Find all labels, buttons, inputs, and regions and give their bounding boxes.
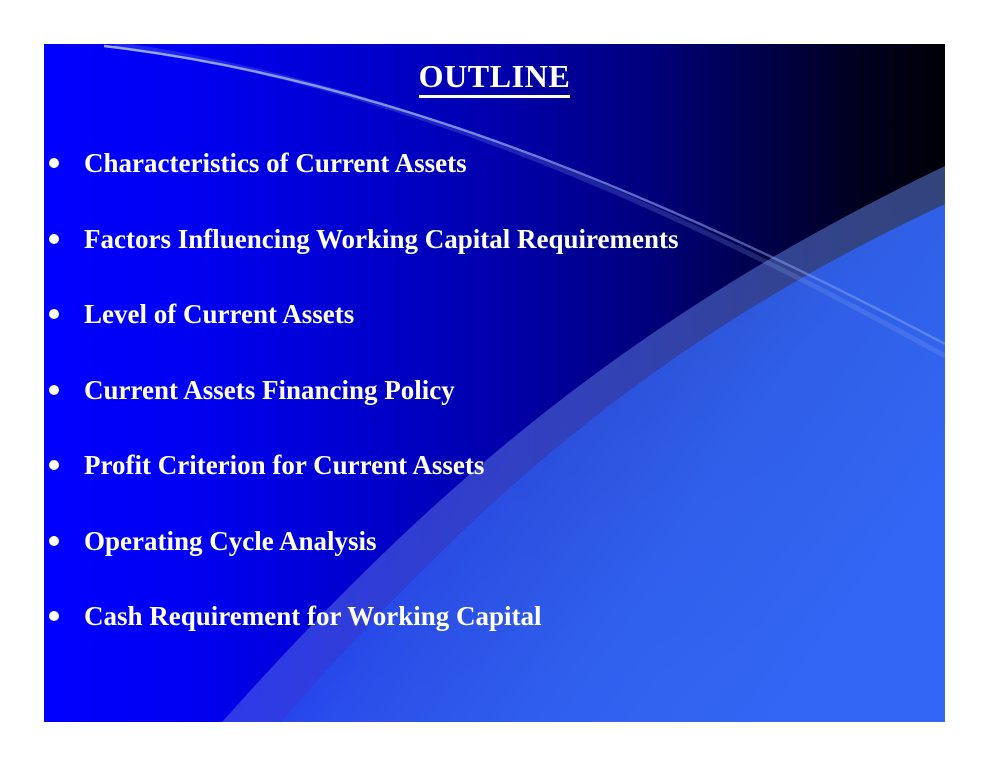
bullet-item-label: Level of Current Assets bbox=[84, 297, 354, 331]
bullet-item-factors-influencing-working-capital-requirements: Factors Influencing Working Capital Requ… bbox=[44, 222, 945, 298]
bullet-point-icon bbox=[49, 234, 59, 244]
presentation-slide: OUTLINE Characteristics of Current Asset… bbox=[44, 44, 945, 722]
slide-content: OUTLINE Characteristics of Current Asset… bbox=[44, 44, 945, 722]
slide-page: OUTLINE Characteristics of Current Asset… bbox=[0, 0, 990, 765]
bullet-point-icon bbox=[49, 536, 59, 546]
outline-bullet-list: Characteristics of Current Assets Factor… bbox=[44, 146, 945, 675]
bullet-item-characteristics-of-current-assets: Characteristics of Current Assets bbox=[44, 146, 945, 222]
slide-title: OUTLINE bbox=[44, 60, 945, 98]
bullet-item-label: Operating Cycle Analysis bbox=[84, 524, 377, 558]
bullet-point-icon bbox=[49, 158, 59, 168]
bullet-point-icon bbox=[49, 309, 59, 319]
bullet-item-label: Characteristics of Current Assets bbox=[84, 146, 467, 180]
bullet-point-icon bbox=[49, 385, 59, 395]
bullet-item-cash-requirement-for-working-capital: Cash Requirement for Working Capital bbox=[44, 599, 945, 675]
bullet-point-icon bbox=[49, 611, 59, 621]
bullet-item-label: Current Assets Financing Policy bbox=[84, 373, 455, 407]
bullet-point-icon bbox=[49, 460, 59, 470]
bullet-item-label: Factors Influencing Working Capital Requ… bbox=[84, 222, 679, 256]
bullet-item-label: Cash Requirement for Working Capital bbox=[84, 599, 542, 633]
bullet-item-level-of-current-assets: Level of Current Assets bbox=[44, 297, 945, 373]
bullet-item-current-assets-financing-policy: Current Assets Financing Policy bbox=[44, 373, 945, 449]
bullet-item-operating-cycle-analysis: Operating Cycle Analysis bbox=[44, 524, 945, 600]
bullet-item-label: Profit Criterion for Current Assets bbox=[84, 448, 484, 482]
bullet-item-profit-criterion-for-current-assets: Profit Criterion for Current Assets bbox=[44, 448, 945, 524]
slide-title-text: OUTLINE bbox=[419, 60, 571, 98]
